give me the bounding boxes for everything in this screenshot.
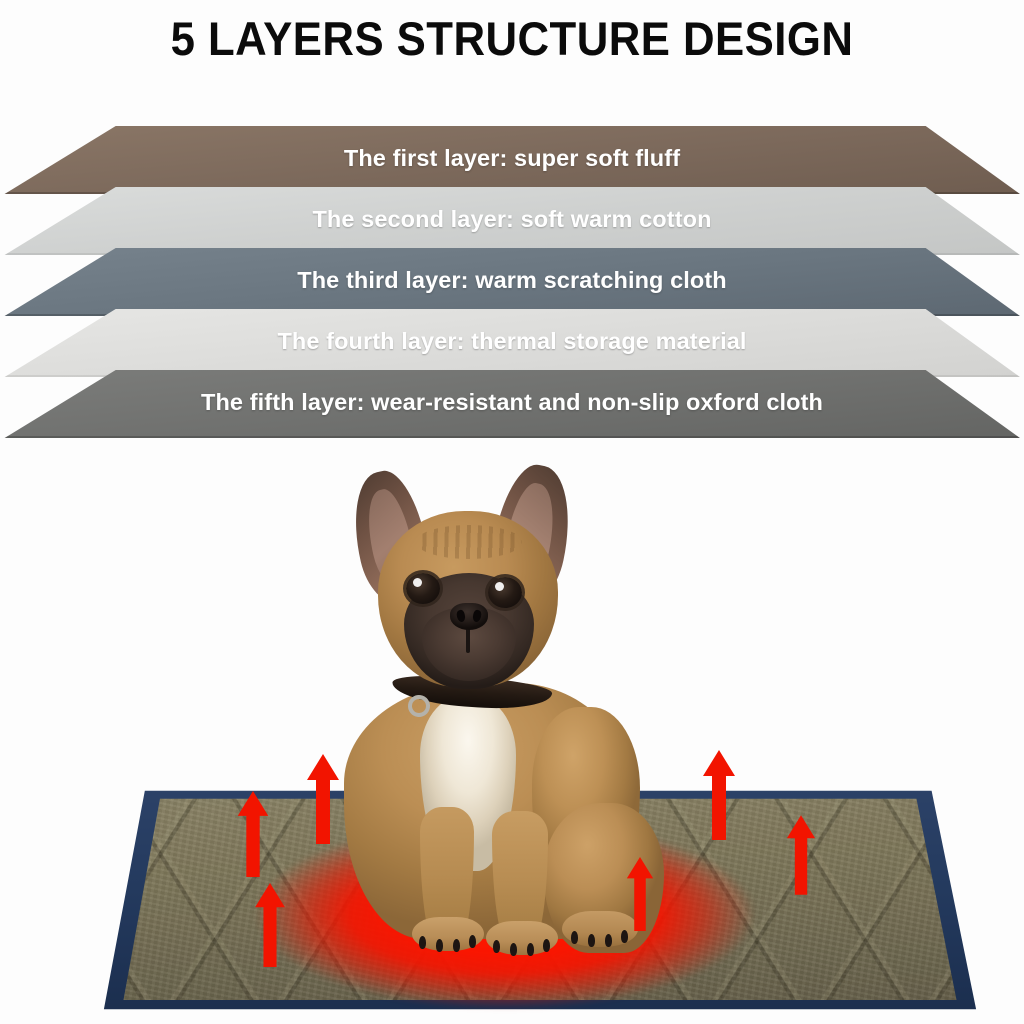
dog-paw-left bbox=[412, 917, 484, 951]
page-title: 5 LAYERS STRUCTURE DESIGN bbox=[36, 11, 988, 66]
layer-label-3: The third layer: warm scratching cloth bbox=[297, 267, 727, 294]
dog-nail bbox=[436, 939, 443, 952]
dog-nail bbox=[605, 934, 612, 947]
dog-eye-left bbox=[406, 573, 440, 604]
layer-edge-5 bbox=[0, 436, 1024, 438]
dog-nail bbox=[543, 939, 550, 952]
heat-arrow-3 bbox=[254, 883, 286, 967]
layer-slab-1: The first layer: super soft fluff bbox=[0, 126, 1024, 194]
product-photo bbox=[0, 455, 1024, 1024]
dog-nail bbox=[453, 939, 460, 952]
layer-label-4: The fourth layer: thermal storage materi… bbox=[277, 328, 746, 355]
heat-arrow-4 bbox=[702, 747, 736, 843]
dog-nail bbox=[527, 943, 534, 956]
layer-label-5: The fifth layer: wear-resistant and non-… bbox=[201, 389, 823, 416]
layer-slab-3: The third layer: warm scratching cloth bbox=[0, 248, 1024, 316]
heat-arrow-6 bbox=[626, 855, 654, 933]
heat-arrow-1 bbox=[236, 791, 270, 877]
dog-nail bbox=[419, 936, 426, 949]
layer-slab-5: The fifth layer: wear-resistant and non-… bbox=[0, 370, 1024, 438]
layer-slab-4: The fourth layer: thermal storage materi… bbox=[0, 309, 1024, 377]
dog-forehead-wrinkles bbox=[416, 525, 522, 559]
dog-nail bbox=[571, 931, 578, 944]
infographic-page: 5 LAYERS STRUCTURE DESIGN The first laye… bbox=[0, 0, 1024, 1024]
dog-nose bbox=[450, 603, 488, 630]
dog-paw-right bbox=[486, 921, 558, 955]
heat-arrow-5 bbox=[786, 815, 816, 895]
dog-philtrum bbox=[466, 627, 470, 653]
dog-eye-right-highlight bbox=[495, 582, 504, 591]
dog-nail bbox=[510, 943, 517, 956]
heat-arrow-2 bbox=[306, 753, 340, 845]
layer-slab-2: The second layer: soft warm cotton bbox=[0, 187, 1024, 255]
layer-label-2: The second layer: soft warm cotton bbox=[312, 206, 711, 233]
layer-label-1: The first layer: super soft fluff bbox=[344, 145, 680, 172]
dog-nail bbox=[493, 940, 500, 953]
dog-nail bbox=[469, 935, 476, 948]
dog-nail bbox=[588, 934, 595, 947]
dog-eye-left-highlight bbox=[413, 578, 422, 587]
dog-eye-right bbox=[488, 577, 522, 608]
layer-stack-diagram: The first layer: super soft fluff The se… bbox=[0, 126, 1024, 461]
dog-illustration bbox=[300, 455, 740, 955]
